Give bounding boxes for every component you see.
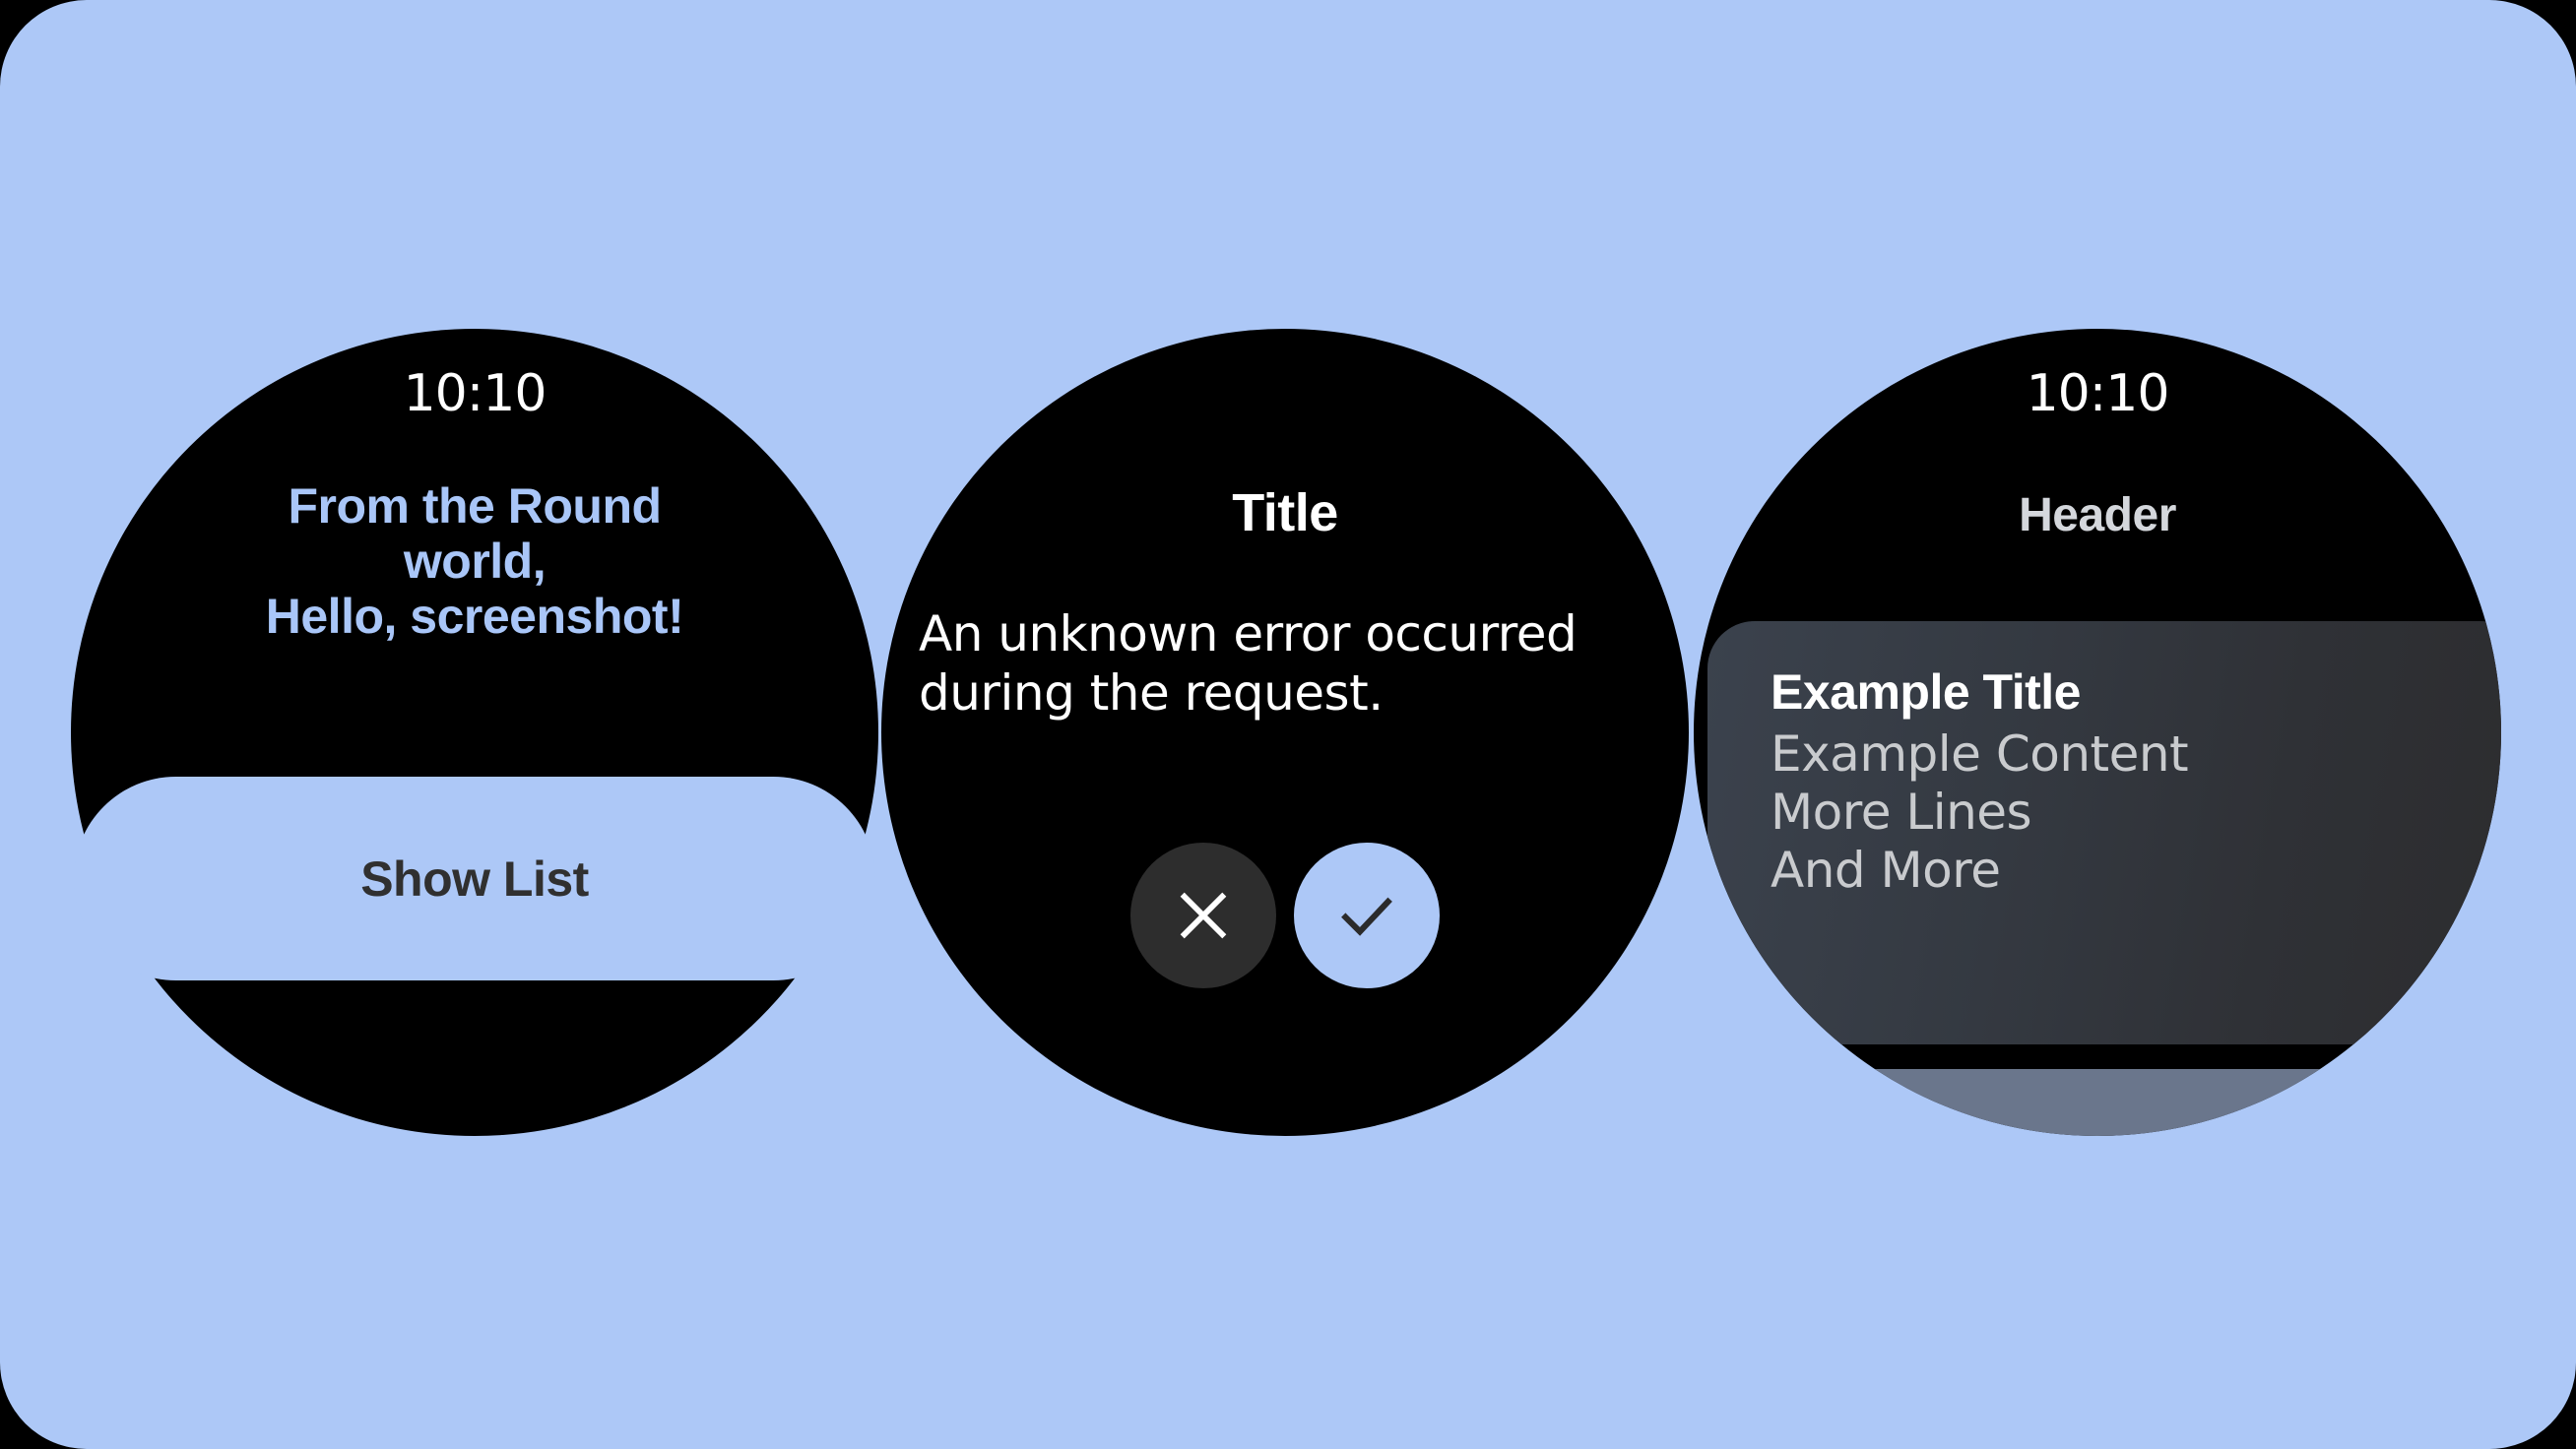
dialog-title: Title bbox=[881, 482, 1689, 543]
show-list-button[interactable]: Show List bbox=[74, 777, 875, 980]
screenshot-canvas: 10:10 From the Round world, Hello, scree… bbox=[0, 0, 2576, 1449]
content-card-line-3: And More bbox=[1771, 842, 2501, 900]
check-icon bbox=[1332, 881, 1401, 950]
close-icon bbox=[1171, 883, 1236, 948]
content-card-line-1: Example Content bbox=[1771, 725, 2501, 784]
content-card-title: Example Title bbox=[1771, 666, 2501, 718]
card-header-title: Header bbox=[1694, 488, 2501, 542]
watch-face-card-list: 10:10 Header Example Title Example Conte… bbox=[1694, 329, 2501, 1136]
greeting-line-1: From the Round bbox=[130, 478, 819, 534]
watch-preview-row: 10:10 From the Round world, Hello, scree… bbox=[0, 0, 2576, 1449]
content-card-body: Example Content More Lines And More bbox=[1771, 725, 2501, 900]
confirm-button[interactable] bbox=[1294, 843, 1440, 988]
status-time: 10:10 bbox=[71, 364, 878, 423]
greeting-text: From the Round world, Hello, screenshot! bbox=[130, 478, 819, 644]
watch-face-alert-dialog: Title An unknown error occurred during t… bbox=[881, 329, 1689, 1136]
dialog-actions bbox=[881, 843, 1689, 988]
greeting-line-2: world, bbox=[130, 534, 819, 589]
status-time: 10:10 bbox=[1694, 364, 2501, 423]
scroll-indicator-band bbox=[1694, 1069, 2501, 1136]
dismiss-button[interactable] bbox=[1130, 843, 1276, 988]
greeting-line-3: Hello, screenshot! bbox=[130, 589, 819, 644]
watch-face-greeting: 10:10 From the Round world, Hello, scree… bbox=[71, 329, 878, 1136]
content-card[interactable]: Example Title Example Content More Lines… bbox=[1707, 621, 2501, 1044]
content-card-line-2: More Lines bbox=[1771, 784, 2501, 842]
dialog-message: An unknown error occurred during the req… bbox=[919, 604, 1651, 723]
watch-1-screen: 10:10 From the Round world, Hello, scree… bbox=[71, 329, 878, 1136]
show-list-button-label: Show List bbox=[360, 850, 589, 908]
